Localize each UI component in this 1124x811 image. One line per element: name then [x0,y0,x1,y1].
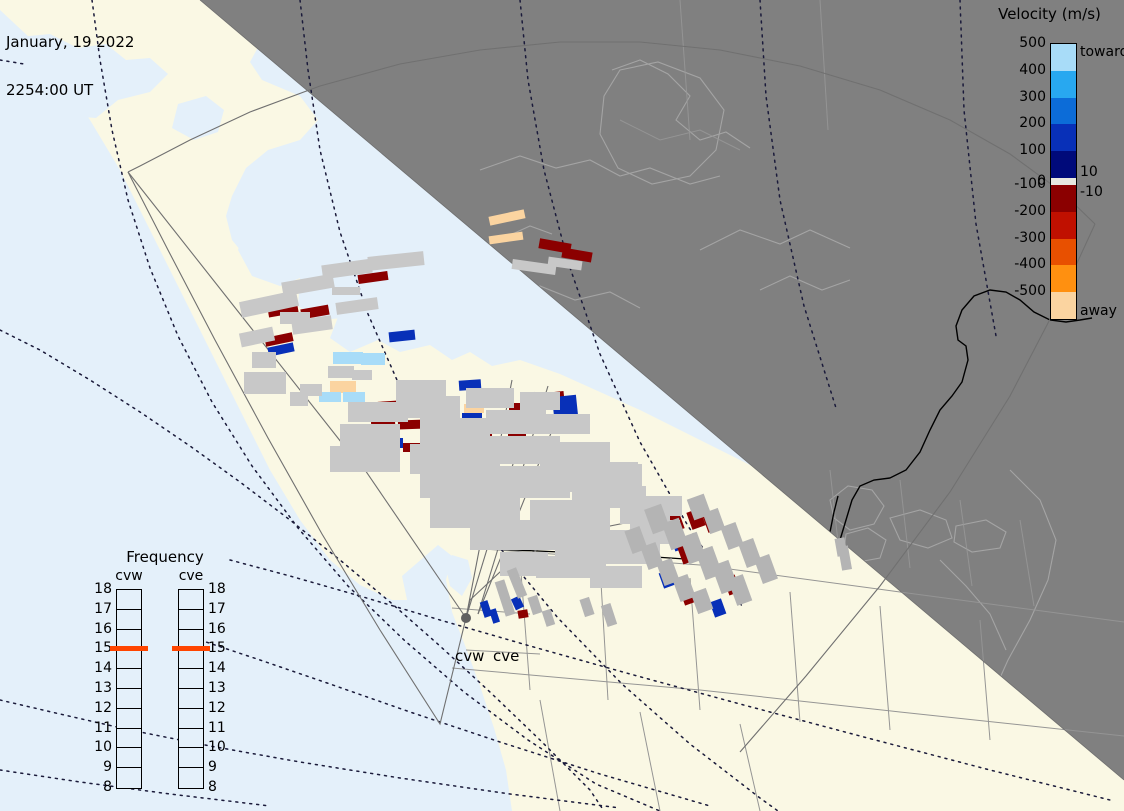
radar-site-marker [461,613,471,623]
frequency-scale-label-left: 8 [90,779,112,795]
frequency-scale-label-left: 9 [90,759,112,775]
frequency-scale-label-left: 18 [90,581,112,597]
colorbar-tick: 300 [1019,89,1046,105]
frequency-scale-label-right: 17 [208,601,226,617]
frequency-scale-label-right: 12 [208,700,226,716]
frequency-bar-cvw [116,589,142,789]
frequency-cell [117,649,141,669]
frequency-marker-cve [172,646,210,651]
frequency-cell [179,748,203,768]
frequency-cell [179,610,203,630]
frequency-bar-cve [178,589,204,789]
colorbar-segment [1051,124,1076,151]
frequency-scale-label-right: 18 [208,581,226,597]
radar-label-cvw: cvw [455,647,484,665]
colorbar-tick: 400 [1019,62,1046,78]
velocity-cell [330,381,356,393]
frequency-cell [179,729,203,749]
frequency-cell [179,689,203,709]
frequency-cell [117,689,141,709]
frequency-column-name-cvw: cvw [106,568,152,584]
frequency-scale-label-left: 16 [90,621,112,637]
frequency-title: Frequency [90,548,240,566]
colorbar-gradient [1050,43,1077,320]
frequency-cell [179,590,203,610]
colorbar-tick: -500 [1014,283,1046,299]
frequency-panel: Frequency cvw cve 1818171716161515141413… [90,548,240,788]
colorbar-minus10-label: -10 [1080,184,1103,200]
frequency-scale-label-right: 11 [208,720,226,736]
timestamp-date: January, 19 2022 [6,34,134,50]
velocity-cell [332,287,360,295]
frequency-scale-label-left: 17 [90,601,112,617]
colorbar-tick: 100 [1019,142,1046,158]
frequency-cell [117,768,141,788]
colorbar-away-label: away [1080,303,1117,319]
velocity-cell [333,352,363,364]
frequency-scale-label-right: 8 [208,779,217,795]
colorbar-tick: -300 [1014,230,1046,246]
frequency-scale-label-left: 13 [90,680,112,696]
colorbar-segment [1051,292,1076,319]
colorbar-tick: -100 [1014,176,1046,192]
frequency-scale-label-left: 14 [90,660,112,676]
colorbar-tick: 500 [1019,35,1046,51]
colorbar-segment [1051,44,1076,71]
frequency-cell [117,669,141,689]
frequency-scale-label-right: 13 [208,680,226,696]
frequency-scale-label-left: 15 [90,640,112,656]
colorbar-title: Velocity (m/s) [975,5,1124,23]
frequency-cell [117,610,141,630]
colorbar-tick: 200 [1019,115,1046,131]
frequency-cell [179,669,203,689]
colorbar-segment [1051,178,1076,185]
frequency-cell [117,748,141,768]
colorbar-tick: -400 [1014,256,1046,272]
colorbar-plus10-label: 10 [1080,164,1098,180]
colorbar-segment [1051,265,1076,292]
radar-label-cve: cve [493,647,519,665]
velocity-cell [343,392,365,402]
velocity-cell [517,609,528,619]
colorbar-segment [1051,212,1076,239]
frequency-scale-label-left: 11 [90,720,112,736]
frequency-marker-cvw [110,646,148,651]
timestamp-block: January, 19 2022 2254:00 UT [6,2,134,130]
colorbar-segment [1051,185,1076,212]
timestamp-time: 2254:00 UT [6,82,134,98]
colorbar-tick: -200 [1014,203,1046,219]
frequency-scale-label-right: 14 [208,660,226,676]
frequency-cell [117,729,141,749]
velocity-cell [319,392,341,402]
superdarn-velocity-map: January, 19 2022 2254:00 UT Velocity (m/… [0,0,1124,811]
frequency-scale-label-right: 15 [208,640,226,656]
colorbar-toward-label: toward [1080,44,1124,60]
frequency-cell [179,768,203,788]
velocity-cell [361,353,385,365]
colorbar-segment [1051,239,1076,266]
frequency-cell [117,590,141,610]
frequency-cell [179,709,203,729]
frequency-scale-label-right: 10 [208,739,226,755]
colorbar-segment [1051,151,1076,178]
frequency-cell [117,709,141,729]
frequency-scale-label-left: 10 [90,739,112,755]
frequency-scale-label-right: 9 [208,759,217,775]
frequency-scale-label-left: 12 [90,700,112,716]
colorbar-segment [1051,71,1076,98]
velocity-colorbar-panel: Velocity (m/s) 5004003002001000-100-200-… [975,0,1124,345]
frequency-scale-label-right: 16 [208,621,226,637]
colorbar-segment [1051,98,1076,125]
frequency-cell [179,649,203,669]
